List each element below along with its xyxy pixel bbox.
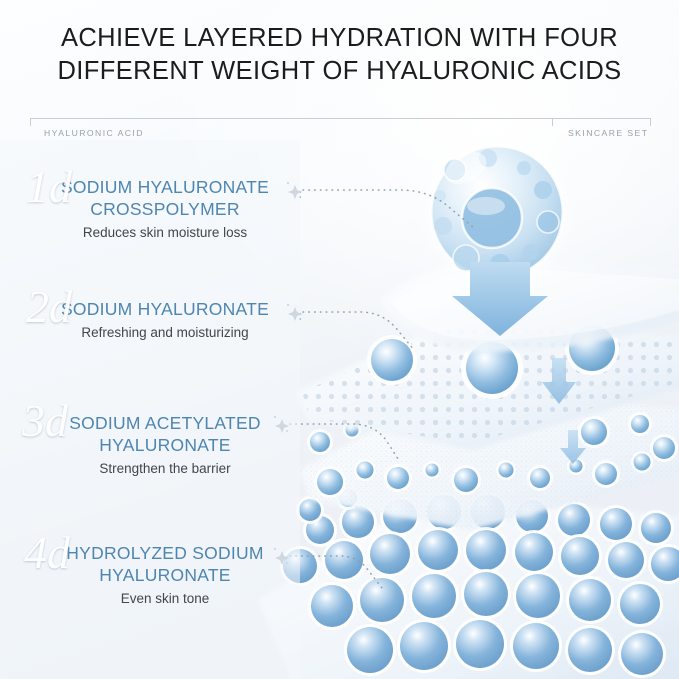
ingredient-heading-3-line-2: HYALURONATE bbox=[36, 434, 294, 456]
ingredient-description-4: Even skin tone bbox=[36, 589, 294, 609]
ingredient-heading-1-line-2: CROSSPOLYMER bbox=[36, 198, 294, 220]
ingredient-heading-3-line-1: SODIUM ACETYLATED bbox=[36, 412, 294, 434]
ingredient-heading-2-line-1: SODIUM HYALURONATE bbox=[36, 298, 294, 320]
ingredient-heading-4-line-1: HYDROLYZED SODIUM bbox=[36, 542, 294, 564]
infographic-poster: ACHIEVE LAYERED HYDRATION WITH FOUR DIFF… bbox=[0, 0, 679, 679]
ingredient-number-2: 2d bbox=[26, 284, 72, 330]
bracket-tick-right bbox=[650, 118, 651, 126]
layer-smooth-skin-sheet bbox=[380, 140, 679, 352]
section-bracket: HYALURONIC ACID SKINCARE SET bbox=[30, 118, 651, 144]
bracket-label-skincare-set: SKINCARE SET bbox=[568, 128, 648, 138]
ingredient-item-3: 3d SODIUM ACETYLATED HYALURONATE Strengt… bbox=[36, 412, 294, 479]
ingredient-number-3: 3d bbox=[22, 398, 68, 444]
ingredient-number-1: 1d bbox=[26, 164, 72, 210]
ingredient-heading-1-line-1: SODIUM HYALURONATE bbox=[36, 176, 294, 198]
title-line-2: DIFFERENT WEIGHT OF HYALURONIC ACIDS bbox=[0, 55, 679, 88]
bracket-tick-middle bbox=[552, 118, 553, 126]
page-title: ACHIEVE LAYERED HYDRATION WITH FOUR DIFF… bbox=[0, 22, 679, 88]
ingredient-heading-4-line-2: HYALURONATE bbox=[36, 564, 294, 586]
bracket-tick-left bbox=[30, 118, 31, 126]
ingredient-item-2: 2d SODIUM HYALURONATE Refreshing and moi… bbox=[36, 298, 294, 343]
ingredient-number-4: 4d bbox=[24, 530, 70, 576]
ingredient-description-2: Refreshing and moisturizing bbox=[36, 323, 294, 343]
bracket-rule bbox=[30, 118, 651, 119]
ingredient-item-4: 4d HYDROLYZED SODIUM HYALURONATE Even sk… bbox=[36, 542, 294, 609]
title-line-1: ACHIEVE LAYERED HYDRATION WITH FOUR bbox=[0, 22, 679, 55]
ingredient-description-1: Reduces skin moisture loss bbox=[36, 223, 294, 243]
ingredient-description-3: Strengthen the barrier bbox=[36, 459, 294, 479]
bracket-label-hyaluronic-acid: HYALURONIC ACID bbox=[44, 128, 144, 138]
ingredient-item-1: 1d SODIUM HYALURONATE CROSSPOLYMER Reduc… bbox=[36, 176, 294, 243]
